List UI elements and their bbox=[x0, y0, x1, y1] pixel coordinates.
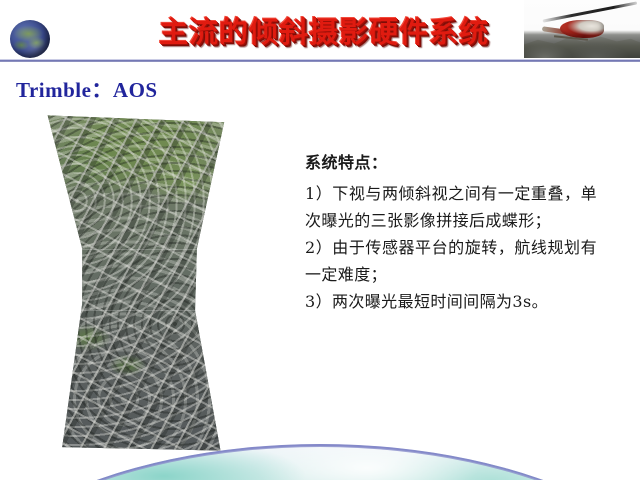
earth-horizon-graphic bbox=[0, 444, 640, 480]
mosaic-seam bbox=[44, 249, 226, 250]
butterfly-aerial-mosaic bbox=[44, 112, 226, 454]
header-divider bbox=[0, 59, 640, 62]
content-item-3: 3）两次曝光最短时间间隔为3s。 bbox=[305, 288, 597, 315]
helicopter-fuselage bbox=[560, 20, 604, 38]
earth-globe-icon bbox=[10, 20, 50, 58]
content-panel: 系统特点： 1）下视与两倾斜视之间有一定重叠，单次曝光的三张影像拼接后成蝶形； … bbox=[305, 150, 597, 315]
slide-header: 主流的倾斜摄影硬件系统 bbox=[0, 0, 640, 62]
slide: 主流的倾斜摄影硬件系统 Trimble：AOS 系统特点： 1）下视与两倾斜视之… bbox=[0, 0, 640, 480]
content-item-2: 2）由于传感器平台的旋转，航线规划有一定难度； bbox=[305, 234, 597, 288]
mosaic-seam bbox=[44, 310, 226, 311]
helicopter-photo bbox=[524, 0, 640, 58]
page-title: 主流的倾斜摄影硬件系统 bbox=[128, 6, 520, 54]
content-item-1: 1）下视与两倾斜视之间有一定重叠，单次曝光的三张影像拼接后成蝶形； bbox=[305, 180, 597, 234]
section-subtitle: Trimble：AOS bbox=[16, 74, 158, 104]
content-heading: 系统特点： bbox=[305, 150, 597, 176]
